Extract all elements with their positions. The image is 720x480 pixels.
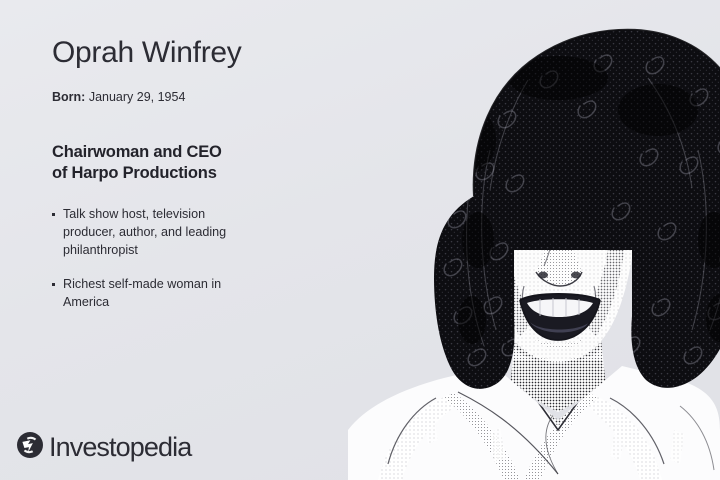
- profile-text-column: Oprah Winfrey Born: January 29, 1954 Cha…: [52, 36, 252, 312]
- born-label: Born:: [52, 90, 85, 104]
- fact-list: Talk show host, television producer, aut…: [52, 206, 252, 311]
- portrait-illustration: [228, 0, 720, 480]
- born-line: Born: January 29, 1954: [52, 89, 252, 105]
- investopedia-swirl-icon: [16, 431, 44, 464]
- fact-text: Richest self-made woman in America: [63, 277, 221, 309]
- role-title-line-2: of Harpo Productions: [52, 163, 252, 184]
- bullet-icon: [52, 213, 55, 216]
- bullet-icon: [52, 283, 55, 286]
- investopedia-wordmark: Investopedia: [49, 434, 191, 461]
- page-title: Oprah Winfrey: [52, 36, 252, 69]
- fact-text: Talk show host, television producer, aut…: [63, 207, 226, 257]
- role-title-line-1: Chairwoman and CEO: [52, 142, 252, 163]
- profile-card: Oprah Winfrey Born: January 29, 1954 Cha…: [0, 0, 720, 480]
- list-item: Richest self-made woman in America: [52, 276, 245, 312]
- role-title: Chairwoman and CEO of Harpo Productions: [52, 142, 252, 184]
- born-date: January 29, 1954: [89, 90, 186, 104]
- list-item: Talk show host, television producer, aut…: [52, 206, 245, 260]
- investopedia-logo: Investopedia: [16, 431, 191, 464]
